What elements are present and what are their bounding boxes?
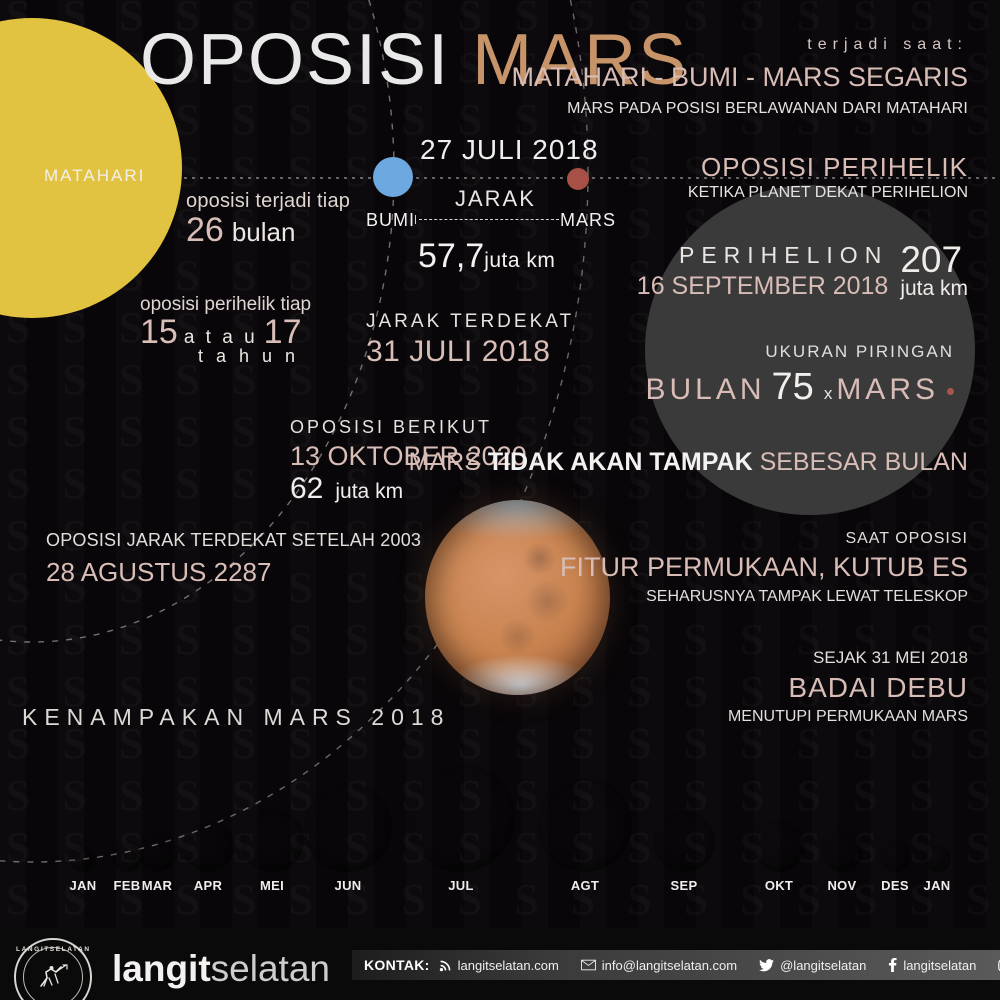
infographic-poster: SSSSSSSSSSSSSSSSSSSSSSSSSSSSSSSSSSSSSSSS… [0, 0, 1000, 1000]
not-as-big-part-a: MARS [409, 448, 488, 476]
perihelion-date: 16 SEPTEMBER 2018 [637, 272, 889, 301]
distance-word: JARAK [455, 186, 536, 212]
contact-item-3[interactable]: langitselatan [888, 958, 976, 973]
month-label-9: OKT [765, 878, 793, 893]
month-axis-labels: JANFEBMARAPRMEIJUNJULAGTSEPOKTNOVDESJAN [0, 878, 1000, 900]
contact-text-3: langitselatan [903, 958, 976, 973]
month-label-0: JAN [70, 878, 97, 893]
cycle-caption: oposisi terjadi tiap [186, 190, 350, 213]
alignment-title: MATAHARI - BUMI - MARS SEGARIS [511, 62, 968, 93]
contact-bar: KONTAK: langitselatan.cominfo@langitsela… [352, 950, 1000, 980]
distance-value-group: 57,7juta km [418, 237, 555, 276]
brand-wordmark: langitselatan [112, 950, 330, 987]
record-opposition-block: OPOSISI JARAK TERDEKAT SETELAH 2003 28 A… [46, 530, 421, 588]
month-label-12: JAN [924, 878, 951, 893]
alignment-subtitle: MARS PADA POSISI BERLAWANAN DARI MATAHAR… [567, 100, 968, 118]
mars-disk-agt-7 [538, 778, 632, 872]
next-caption: OPOSISI BERIKUT [290, 417, 527, 438]
mars-disk-jan-0 [70, 846, 96, 872]
sun-label: MATAHARI [44, 166, 145, 186]
earth-label: BUMI [366, 210, 415, 231]
perihelion-unit: juta km [900, 277, 968, 301]
disk-moon-label: BULAN [645, 373, 765, 406]
mars-size-series [0, 760, 1000, 872]
email-icon [581, 959, 596, 971]
perihelic-value-1: 15 [140, 313, 178, 351]
contact-item-2[interactable]: @langitselatan [759, 958, 866, 973]
contact-label: KONTAK: [364, 957, 430, 973]
mars-disk-mar-2 [138, 833, 177, 872]
perihelic-opposition-title: OPOSISI PERIHELIK [701, 152, 968, 183]
seal-top-text: LANGITSELATAN [16, 946, 90, 953]
contact-text-2: @langitselatan [780, 958, 866, 973]
perihelion-value: 207 [900, 242, 968, 277]
mars-disk-sep-8 [654, 811, 715, 872]
mars-disk-okt-9 [754, 821, 805, 872]
twitter-icon [759, 959, 774, 972]
perihelic-separator: a t a u [184, 327, 258, 348]
opposition-date: 27 JULI 2018 [420, 134, 599, 166]
appearance-heading: KENAMPAKAN MARS 2018 [22, 704, 450, 731]
opposition-cycle-block: oposisi terjadi tiap 26bulan [186, 190, 350, 250]
rss-icon [439, 959, 452, 972]
disk-mars-label: MARS [836, 373, 939, 406]
disk-times-symbol: x [824, 384, 833, 403]
mars-label: MARS [560, 210, 616, 231]
disk-size-caption: UKURAN PIRINGAN [645, 342, 954, 362]
perihelion-block: PERIHELION 16 SEPTEMBER 2018 207 juta km [637, 242, 968, 301]
at-opposition-label: SAAT OPOSISI [845, 530, 968, 548]
dust-storm-title: BADAI DEBU [788, 672, 968, 704]
month-label-1: FEB [114, 878, 141, 893]
perihelion-word: PERIHELION [637, 242, 889, 269]
contact-item-0[interactable]: langitselatan.com [439, 958, 559, 973]
disk-size-row: BULAN75xMARS [645, 366, 954, 409]
mars-disk-nov-10 [822, 831, 863, 872]
contact-text-1: info@langitselatan.com [602, 958, 737, 973]
disk-size-block: UKURAN PIRINGAN BULAN75xMARS [645, 342, 954, 409]
dust-storm-since: SEJAK 31 MEI 2018 [813, 648, 968, 668]
not-as-big-part-c: SEBESAR BULAN [760, 448, 968, 476]
not-as-big-part-b: TIDAK AKAN TAMPAK [488, 448, 760, 476]
contact-items: langitselatan.cominfo@langitselatan.com@… [439, 958, 1000, 973]
record-date: 28 AGUSTUS 2287 [46, 557, 421, 588]
mars-disk-jun-5 [304, 784, 392, 872]
contact-item-1[interactable]: info@langitselatan.com [581, 958, 737, 973]
month-label-2: MAR [142, 878, 173, 893]
cycle-value-row: 26bulan [186, 211, 350, 250]
next-distance-value: 62 [290, 472, 323, 505]
closest-date: 31 JULI 2018 [366, 335, 574, 369]
mars-disk-des-11 [880, 841, 911, 872]
next-distance-row: 62juta km [290, 472, 527, 506]
closest-caption: JARAK TERDEKAT [366, 311, 574, 333]
disk-factor: 75 [772, 366, 814, 408]
month-label-10: NOV [827, 878, 856, 893]
month-label-11: DES [881, 878, 909, 893]
mars-disk-apr-3 [183, 821, 234, 872]
month-label-4: MEI [260, 878, 284, 893]
brand-part-2: selatan [211, 948, 330, 989]
langitselatan-seal-logo: LANGITSELATAN ASTRO 101 [14, 938, 92, 1000]
surface-features-title: FITUR PERMUKAAN, KUTUB ES [560, 552, 968, 583]
next-distance-unit: juta km [335, 480, 403, 503]
month-label-3: APR [194, 878, 222, 893]
mars-disk-jan-12 [924, 845, 951, 872]
cycle-unit: bulan [232, 217, 296, 247]
dust-storm-subtitle: MENUTUPI PERMUKAAN MARS [728, 708, 968, 726]
month-label-5: JUN [335, 878, 362, 893]
month-label-6: JUL [448, 878, 473, 893]
record-caption: OPOSISI JARAK TERDEKAT SETELAH 2003 [46, 530, 421, 551]
facebook-icon [888, 958, 897, 972]
month-label-7: AGT [571, 878, 599, 893]
closest-approach-block: JARAK TERDEKAT 31 JULI 2018 [366, 311, 574, 369]
distance-unit: juta km [484, 249, 555, 272]
perihelic-cycle-block: oposisi perihelik tiap 15a t a u17 t a h… [140, 294, 311, 367]
distance-arrow [415, 215, 563, 225]
mars-disk-mei-4 [241, 809, 304, 872]
month-label-8: SEP [671, 878, 698, 893]
perihelic-unit: t a h u n [198, 346, 311, 367]
perihelic-opposition-subtitle: KETIKA PLANET DEKAT PERIHELION [688, 184, 968, 202]
distance-value: 57,7 [418, 237, 484, 275]
contact-text-0: langitselatan.com [458, 958, 559, 973]
title-part-1: OPOSISI [140, 20, 450, 100]
sagittarius-centaur-icon [35, 962, 71, 992]
brand-part-1: langit [112, 948, 211, 989]
mars-scale-dot [947, 388, 954, 395]
cycle-value: 26 [186, 211, 224, 249]
not-as-big-statement: MARS TIDAK AKAN TAMPAK SEBESAR BULAN [409, 448, 968, 477]
happens-when-label: terjadi saat: [807, 36, 968, 54]
surface-features-subtitle: SEHARUSNYA TAMPAK LEWAT TELESKOP [646, 588, 968, 606]
mars-disk-jul-6 [407, 764, 515, 872]
